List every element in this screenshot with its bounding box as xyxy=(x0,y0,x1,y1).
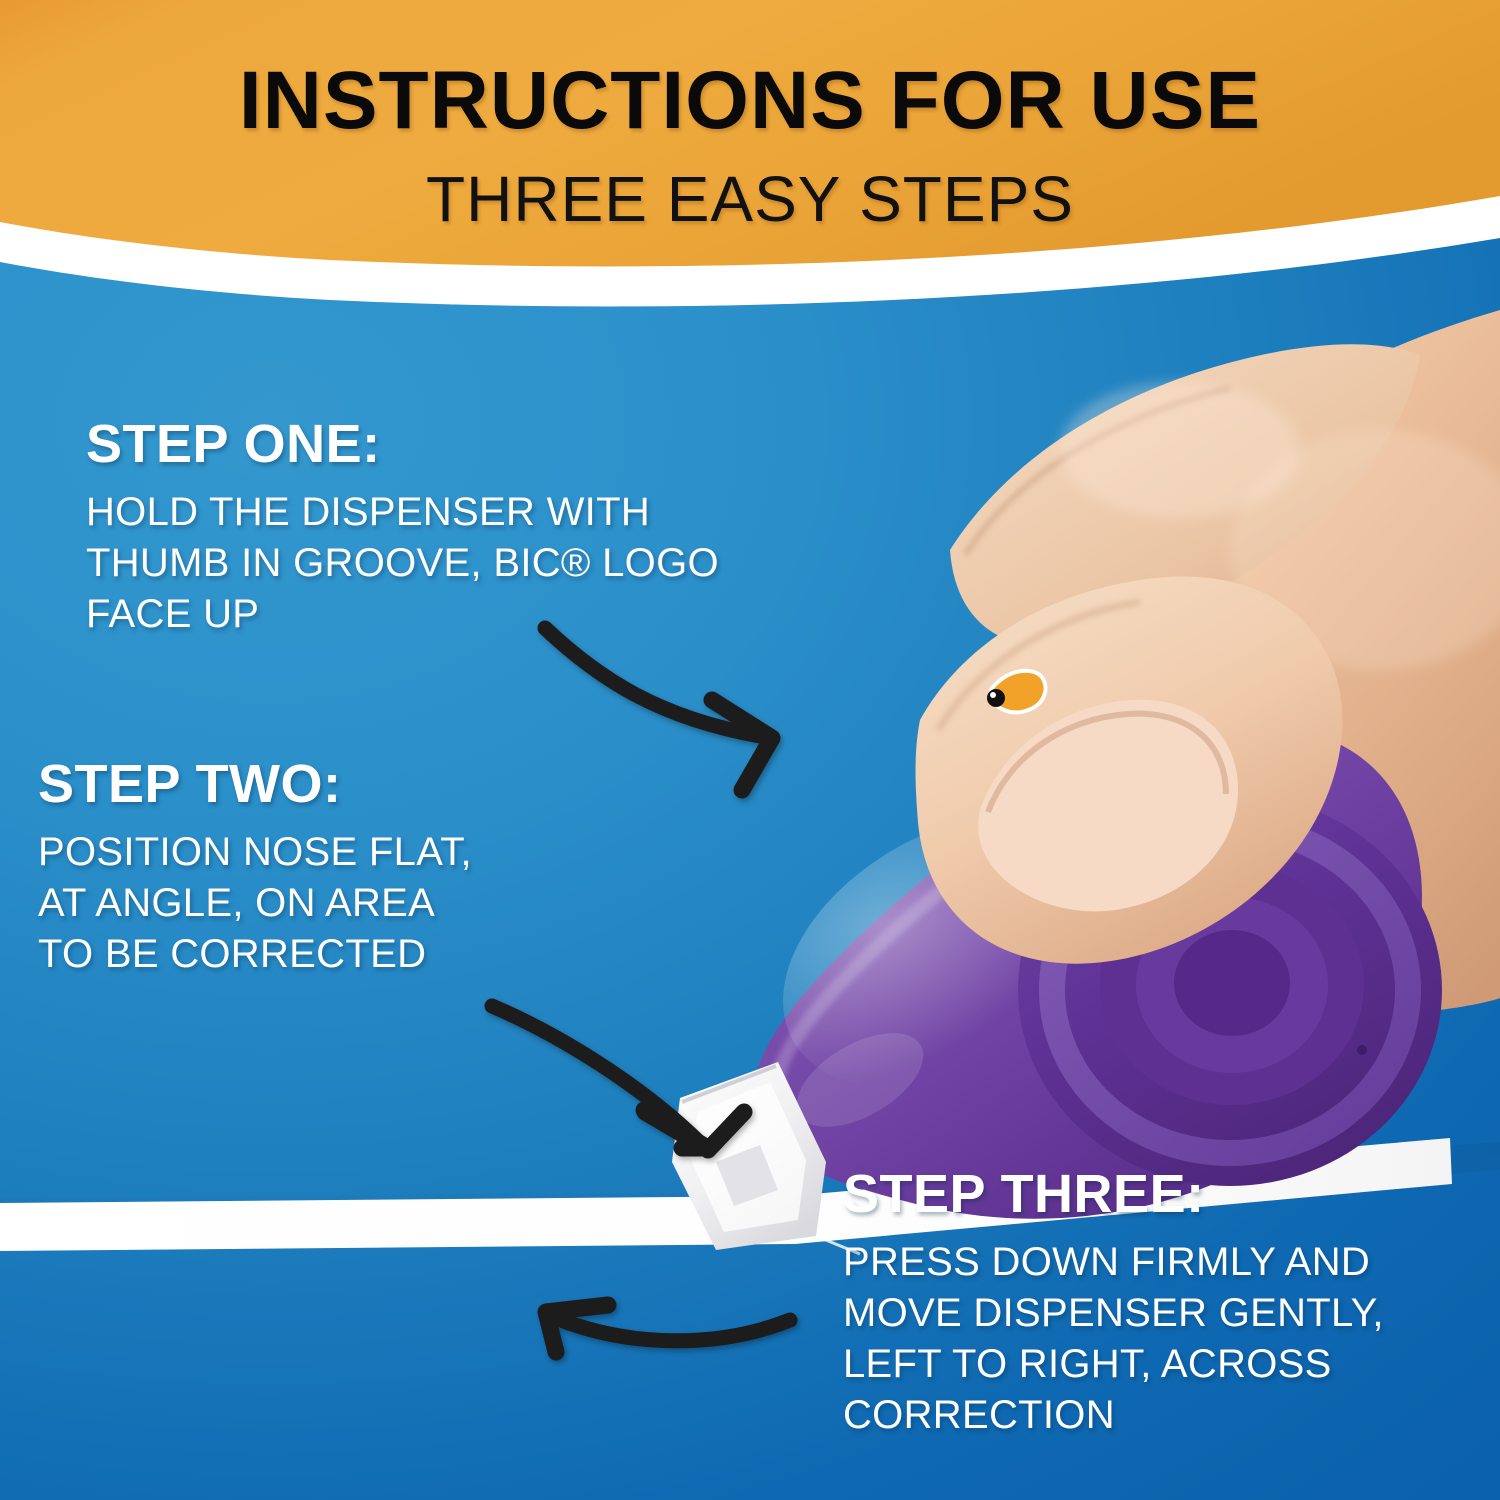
step-block-three: STEP THREE: PRESS DOWN FIRMLY AND MOVE D… xyxy=(843,1166,1384,1441)
step-two-body: POSITION NOSE FLAT, AT ANGLE, ON AREA TO… xyxy=(38,827,472,981)
step-block-two: STEP TWO: POSITION NOSE FLAT, AT ANGLE, … xyxy=(38,756,472,980)
step-two-line-2: AT ANGLE, ON AREA xyxy=(38,878,472,929)
step-three-line-1: PRESS DOWN FIRMLY AND xyxy=(843,1237,1384,1288)
hand-holding-dispenser xyxy=(620,250,1500,1260)
step-two-heading: STEP TWO: xyxy=(38,756,472,813)
step-three-heading: STEP THREE: xyxy=(843,1166,1384,1223)
step-one-line-2: THUMB IN GROOVE, BIC® LOGO xyxy=(86,538,719,589)
step-one-body: HOLD THE DISPENSER WITH THUMB IN GROOVE,… xyxy=(86,487,719,641)
step-three-line-4: CORRECTION xyxy=(843,1390,1384,1441)
step-one-line-1: HOLD THE DISPENSER WITH xyxy=(86,487,719,538)
step-three-line-3: LEFT TO RIGHT, ACROSS xyxy=(843,1339,1384,1390)
infographic-canvas: INSTRUCTIONS FOR USE THREE EASY STEPS xyxy=(0,0,1500,1500)
step-two-line-3: TO BE CORRECTED xyxy=(38,929,472,980)
step-three-line-2: MOVE DISPENSER GENTLY, xyxy=(843,1288,1384,1339)
step-three-body: PRESS DOWN FIRMLY AND MOVE DISPENSER GEN… xyxy=(843,1237,1384,1442)
step-block-one: STEP ONE: HOLD THE DISPENSER WITH THUMB … xyxy=(86,416,719,640)
step-one-line-3: FACE UP xyxy=(86,589,719,640)
step-two-line-1: POSITION NOSE FLAT, xyxy=(38,827,472,878)
step-one-heading: STEP ONE: xyxy=(86,416,719,473)
